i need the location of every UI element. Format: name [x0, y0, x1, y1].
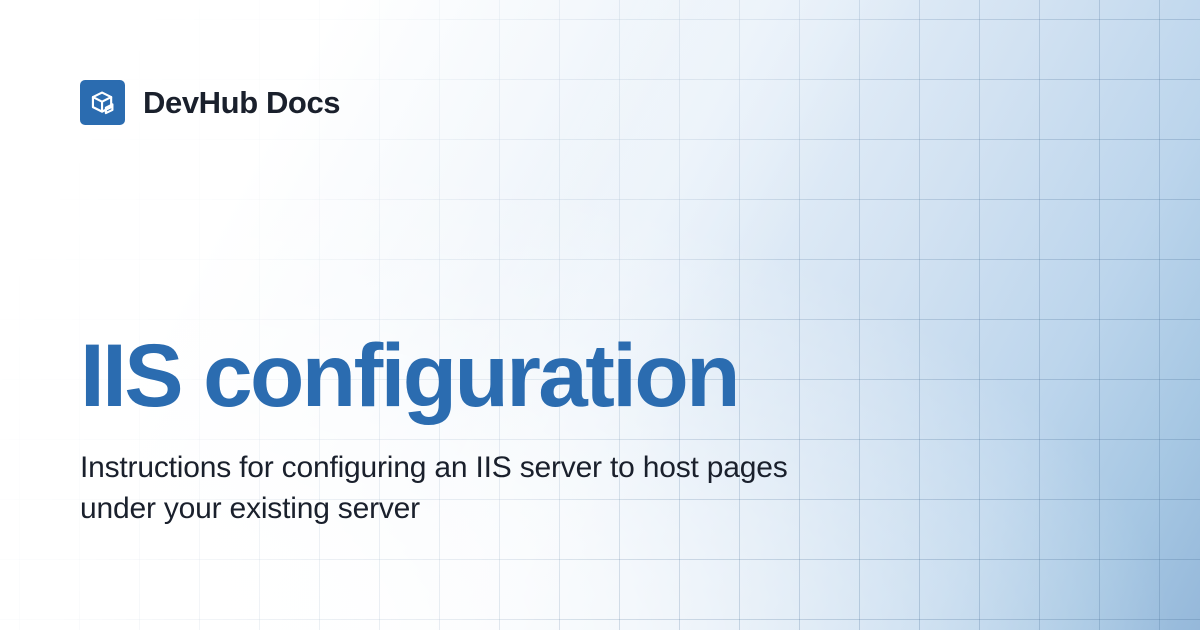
brand-name: DevHub Docs [143, 87, 340, 118]
package-cube-icon [80, 80, 125, 125]
page-title: IIS configuration [80, 330, 1080, 421]
page-subtitle: Instructions for configuring an IIS serv… [80, 421, 870, 529]
og-card: DevHub Docs IIS configuration Instructio… [0, 0, 1200, 630]
card-content: DevHub Docs IIS configuration Instructio… [0, 0, 1200, 630]
brand-lockup: DevHub Docs [80, 80, 340, 125]
headline-block: IIS configuration Instructions for confi… [80, 330, 1080, 529]
